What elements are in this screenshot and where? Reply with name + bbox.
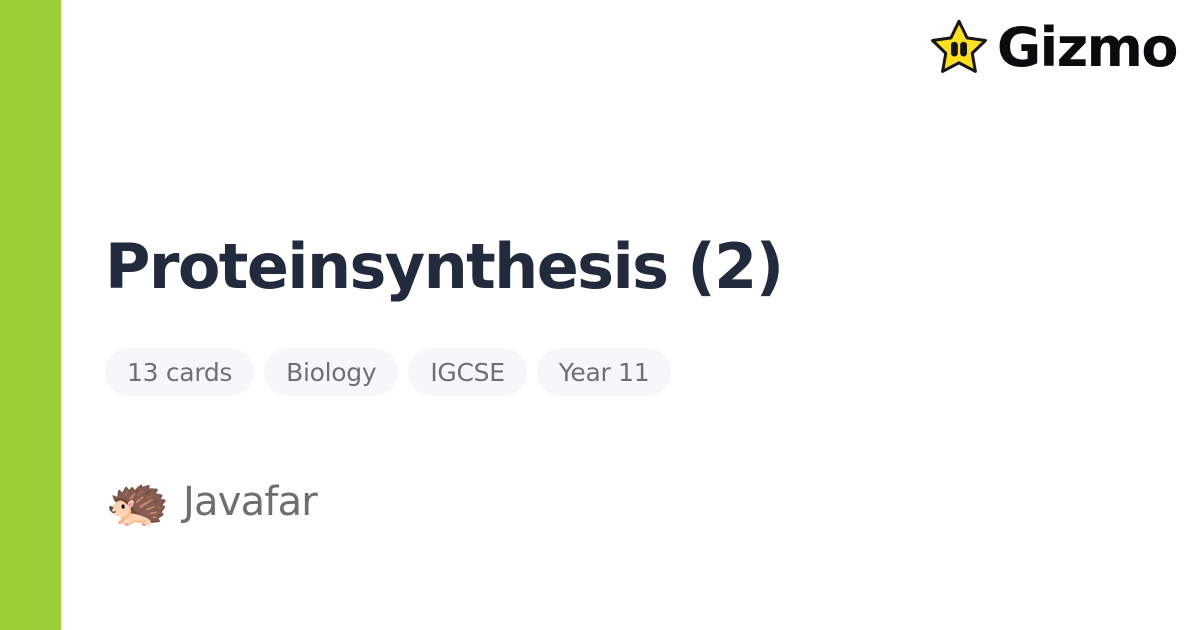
deck-info: Proteinsynthesis (2) 13 cards Biology IG… (105, 228, 1125, 533)
left-accent-bar (0, 0, 61, 630)
brand-logo[interactable]: Gizmo (929, 18, 1177, 78)
author-row[interactable]: 🦔 Javafar (105, 471, 1125, 533)
tag-label: IGCSE (430, 360, 504, 385)
tag-pill-curriculum[interactable]: IGCSE (408, 348, 526, 396)
tag-list: 13 cards Biology IGCSE Year 11 (105, 348, 1125, 396)
author-name: Javafar (183, 482, 317, 522)
tag-pill-year[interactable]: Year 11 (537, 348, 672, 396)
tag-label: 13 cards (127, 360, 232, 385)
tag-pill-subject[interactable]: Biology (264, 348, 398, 396)
hedgehog-avatar: 🦔 (105, 471, 167, 533)
star-icon (929, 18, 989, 78)
tag-pill-card-count[interactable]: 13 cards (105, 348, 254, 396)
page-title: Proteinsynthesis (2) (105, 228, 1125, 306)
tag-label: Year 11 (559, 360, 650, 385)
brand-name: Gizmo (997, 21, 1177, 75)
tag-label: Biology (286, 360, 376, 385)
share-card-page: Gizmo Proteinsynthesis (2) 13 cards Biol… (0, 0, 1200, 630)
